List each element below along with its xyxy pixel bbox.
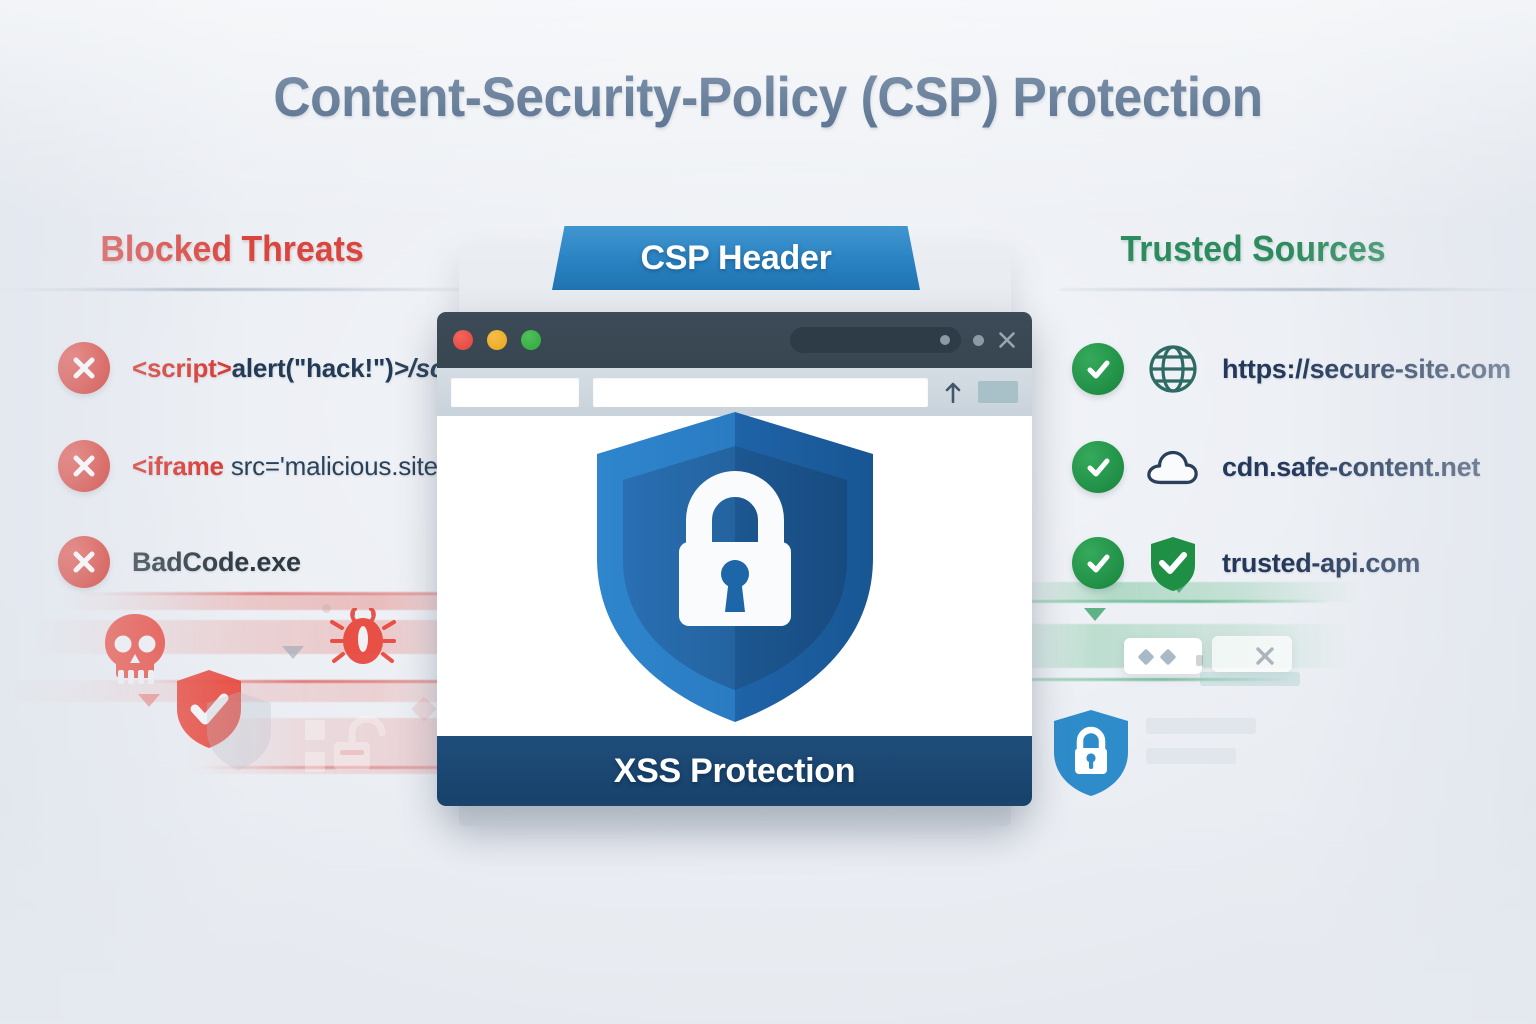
page-title: Content-Security-Policy (CSP) Protection (61, 64, 1474, 129)
threat-tag: <script> (132, 353, 232, 383)
blocked-threat-row: <iframe src='malicious.site'> (58, 440, 458, 492)
blocked-threat-label: BadCode.exe (132, 547, 301, 578)
decor-teal-smear (1200, 672, 1300, 686)
blocked-threat-label: <iframe src='malicious.site'> (132, 451, 458, 482)
shield-shadow-decor (205, 690, 273, 777)
toolbar-button[interactable] (978, 381, 1018, 403)
arrow-up-icon[interactable] (942, 379, 964, 405)
threat-mid: src='malicious.site'> (224, 451, 458, 481)
x-circle-icon (58, 342, 110, 394)
trusted-source-row: https://secure-site.com (1072, 342, 1511, 396)
decor-placeholder-bar-1 (1146, 718, 1256, 734)
shield-check-icon (1146, 536, 1200, 590)
check-circle-icon (1072, 343, 1124, 395)
trusted-sources-divider (1060, 288, 1536, 291)
decor-diamond-pair (1138, 648, 1184, 671)
toolbar-input-small[interactable] (451, 378, 579, 407)
traffic-lights (453, 330, 541, 350)
shield-lock-icon (579, 402, 891, 737)
blocked-threats-heading: Blocked Threats (100, 228, 363, 270)
cloud-icon (1146, 440, 1200, 494)
xss-protection-label: XSS Protection (614, 752, 855, 791)
browser-window: XSS Protection (437, 312, 1032, 806)
trusted-source-label: cdn.safe-content.net (1222, 452, 1480, 483)
close-x-icon-decor (1255, 646, 1275, 671)
threat-mid: alert("hack!") (232, 353, 394, 383)
csp-header-banner: CSP Header (552, 226, 920, 290)
check-circle-icon (1072, 441, 1124, 493)
blocked-threat-label: <script>alert("hack!")>/script (132, 353, 485, 384)
decor-placeholder-bar-2 (1146, 748, 1236, 764)
shield-lock-icon-decor-right (1050, 708, 1132, 803)
decor-triangle-red (138, 694, 160, 707)
infographic-canvas: Content-Security-Policy (CSP) Protection… (0, 0, 1536, 1024)
blocked-threat-row: BadCode.exe (58, 536, 301, 588)
blocked-threats-divider (0, 288, 470, 291)
close-x-icon[interactable] (996, 329, 1018, 351)
decor-square-b (305, 752, 325, 772)
decor-red-band-1 (60, 594, 490, 610)
decor-green-line-1 (1030, 600, 1330, 603)
close-dot-red-icon[interactable] (453, 330, 473, 350)
trusted-source-label: trusted-api.com (1222, 548, 1420, 579)
minimize-dot-yellow-icon[interactable] (487, 330, 507, 350)
globe-icon (1146, 342, 1200, 396)
trusted-source-label: https://secure-site.com (1222, 354, 1511, 385)
unlock-icon (330, 716, 392, 777)
bug-icon (330, 608, 396, 679)
decor-dot-right (1196, 655, 1203, 666)
titlebar-pill-dot-icon (940, 335, 950, 345)
blocked-threat-row: <script>alert("hack!")>/script (58, 342, 485, 394)
trusted-source-row: cdn.safe-content.net (1072, 440, 1480, 494)
titlebar-controls (790, 327, 1018, 353)
x-circle-icon (58, 440, 110, 492)
check-circle-icon (1072, 537, 1124, 589)
trusted-source-row: trusted-api.com (1072, 536, 1420, 590)
decor-triangle-gray (282, 646, 304, 659)
xss-protection-footer: XSS Protection (437, 736, 1032, 806)
decor-white-card-2 (1212, 636, 1292, 672)
titlebar-dot-icon[interactable] (973, 335, 984, 346)
browser-viewport (437, 416, 1032, 736)
x-circle-icon (58, 536, 110, 588)
decor-square-a (305, 720, 325, 740)
threat-tag: <iframe (132, 451, 224, 481)
browser-titlebar (437, 312, 1032, 368)
titlebar-pill[interactable] (790, 327, 961, 353)
decor-triangle-green-2 (1084, 608, 1106, 621)
csp-header-label: CSP Header (640, 239, 831, 278)
skull-icon (100, 612, 170, 693)
decor-dot-left (322, 604, 331, 613)
trusted-sources-heading: Trusted Sources (1120, 228, 1385, 270)
maximize-dot-green-icon[interactable] (521, 330, 541, 350)
